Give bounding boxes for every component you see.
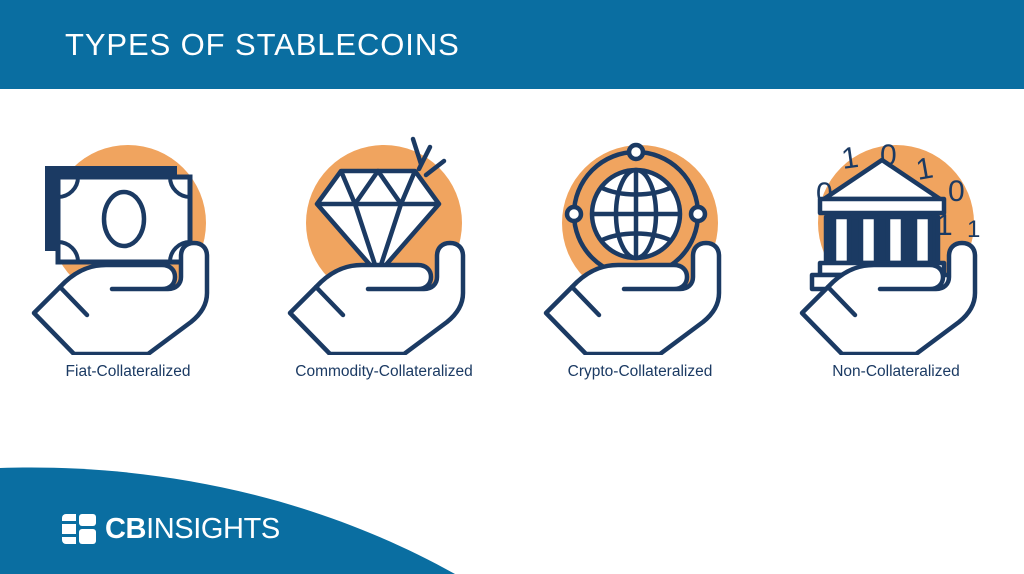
svg-text:1: 1	[967, 216, 980, 243]
diamond-in-hand-icon	[284, 125, 484, 355]
banknote-in-hand-icon	[28, 125, 228, 355]
card-label: Non-Collateralized	[832, 363, 960, 381]
footer-curve-shape	[0, 434, 1024, 574]
svg-text:1: 1	[839, 141, 860, 176]
card-label: Crypto-Collateralized	[568, 363, 713, 381]
cb-insights-grid-mark	[62, 514, 96, 544]
svg-text:0: 0	[948, 175, 965, 208]
card-fiat-collateralized: Fiat-Collateralized	[0, 125, 256, 405]
card-commodity-collateralized: Commodity-Collateralized	[256, 125, 512, 405]
card-non-collateralized: 1 0 1 0 0 1 0 0 1 0 1	[768, 125, 1024, 405]
page-title: TYPES OF STABLECOINS	[65, 27, 460, 63]
globe	[592, 170, 680, 258]
card-label: Fiat-Collateralized	[66, 363, 191, 381]
bank-in-hand-icon: 1 0 1 0 0 1 0 0 1 0 1	[796, 125, 996, 355]
cb-insights-logo: CBINSIGHTS	[62, 512, 280, 546]
slide-root: TYPES OF STABLECOINS	[0, 0, 1024, 574]
globe-in-hand-icon	[540, 125, 740, 355]
logo-text-bold: CB	[105, 513, 146, 545]
card-label: Commodity-Collateralized	[295, 363, 472, 381]
card-crypto-collateralized: Crypto-Collateralized	[512, 125, 768, 405]
logo-text-light: INSIGHTS	[146, 513, 280, 545]
banknote	[58, 177, 190, 262]
stablecoin-type-list: Fiat-Collateralized	[0, 125, 1024, 405]
cb-insights-wordmark: CBINSIGHTS	[105, 515, 280, 544]
